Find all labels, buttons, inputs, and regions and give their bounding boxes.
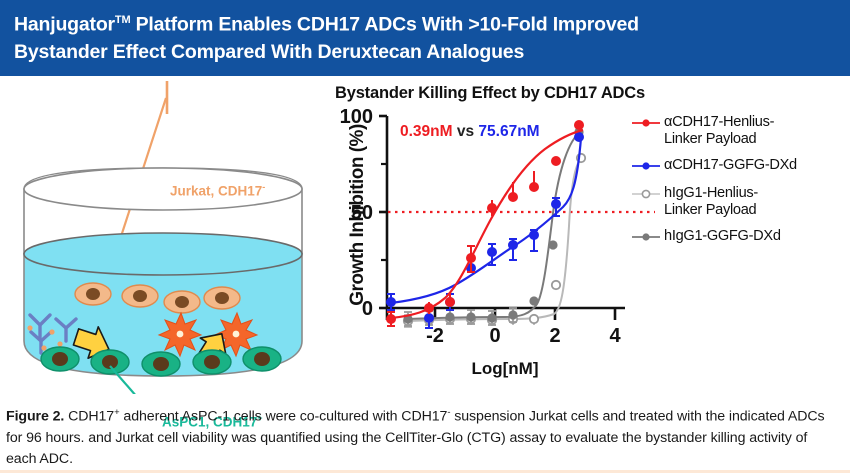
x-tick-label-2: 2 (549, 325, 560, 347)
data-point (551, 156, 561, 166)
figure-label: Figure 2. (6, 409, 64, 425)
data-point (574, 132, 584, 142)
caption-text: Figure 2. CDH17+ adherent AsPC-1 cells w… (6, 402, 836, 470)
legend-label-line2: Linker Payload (664, 202, 756, 218)
data-point (386, 297, 396, 307)
payload-dot (41, 345, 46, 350)
experiment-illustration: Jurkat, CDH17- AsPC1, CDH17+ (0, 76, 330, 394)
legend-marker-blue-filled-circle (630, 157, 664, 176)
data-point (548, 240, 557, 249)
bottom-accent-line (0, 470, 850, 473)
aspc1-nucleus (204, 355, 220, 369)
fluid-surface (24, 233, 302, 275)
chart-legend: αCDH17-Henlius- Linker Payload αCDH17-GG… (630, 114, 845, 256)
y-tick-label-0: 0 (362, 298, 373, 320)
x-tick-label-0: 0 (489, 325, 500, 347)
jurkat-nucleus (175, 296, 189, 308)
burst-core (177, 331, 184, 338)
figure-caption: Figure 2. CDH17+ adherent AsPC-1 cells w… (0, 398, 850, 476)
jurkat-nucleus (215, 292, 229, 304)
jurkat-label-text: Jurkat, CDH17 (170, 184, 262, 199)
data-point (508, 240, 518, 250)
data-point (529, 182, 539, 192)
legend-item-higg1-henlius[interactable]: hIgG1-Henlius- Linker Payload (630, 185, 845, 219)
jurkat-label-sup: - (262, 182, 265, 192)
data-point (487, 313, 496, 322)
data-point (530, 315, 538, 323)
legend-label: hIgG1-GGFG-DXd (664, 228, 781, 245)
title-line1-a: Hanjugator (14, 14, 115, 36)
payload-dot (49, 329, 54, 334)
legend-item-acdh17-henlius[interactable]: αCDH17-Henlius- Linker Payload (630, 114, 845, 148)
title-line1-b: Platform Enables CDH17 ADCs With >10-Fol… (130, 14, 638, 36)
burst-core (233, 331, 240, 338)
data-point (386, 314, 396, 324)
legend-label: hIgG1-Henlius- Linker Payload (664, 185, 758, 219)
y-tick-label-100: 100 (340, 106, 373, 128)
legend-label-line1: αCDH17-GGFG-DXd (664, 157, 797, 173)
legend-label: αCDH17-GGFG-DXd (664, 157, 797, 174)
data-point (529, 230, 539, 240)
payload-dot (27, 325, 32, 330)
y-tick-label-50: 50 (351, 202, 373, 224)
trademark-symbol: TM (115, 14, 130, 26)
data-point (508, 310, 517, 319)
data-point (487, 203, 497, 213)
legend-item-acdh17-ggfg[interactable]: αCDH17-GGFG-DXd (630, 157, 845, 176)
caption-text-a: CDH17 (64, 409, 114, 425)
data-point (466, 312, 475, 321)
legend-marker-gray-filled-circle (630, 228, 664, 247)
data-point (529, 296, 538, 305)
aspc1-nucleus (153, 357, 169, 371)
data-point (445, 312, 454, 321)
legend-label-line2: Linker Payload (664, 131, 756, 147)
figure-content: Jurkat, CDH17- AsPC1, CDH17+ Bystander K… (0, 76, 850, 394)
series-line-higg1-henlius (408, 159, 581, 321)
jurkat-nucleus (133, 290, 147, 302)
legend-label-line1: hIgG1-Henlius- (664, 185, 758, 201)
plot-area: 100 50 0 -2 0 2 4 (325, 76, 655, 376)
data-point (445, 297, 455, 307)
data-point (508, 192, 518, 202)
legend-label-line1: αCDH17-Henlius- (664, 114, 774, 130)
dose-response-chart: Bystander Killing Effect by CDH17 ADCs G… (325, 76, 850, 394)
legend-marker-red-filled-circle (630, 114, 664, 133)
jurkat-nucleus (86, 288, 100, 300)
series-markers-acdh17-henlius (386, 120, 584, 324)
legend-marker-gray-open-circle (630, 185, 664, 204)
header-banner: HanjugatorTM Platform Enables CDH17 ADCs… (0, 0, 850, 76)
data-point (424, 303, 434, 313)
data-point (487, 247, 497, 257)
caption-text-b: adherent AsPC-1 cells were co-cultured w… (120, 409, 448, 425)
data-point (551, 199, 561, 209)
data-point (466, 253, 476, 263)
page-title: HanjugatorTM Platform Enables CDH17 ADCs… (14, 7, 836, 66)
coculture-diagram (0, 76, 330, 394)
legend-item-higg1-ggfg[interactable]: hIgG1-GGFG-DXd (630, 228, 845, 247)
x-tick-label-4: 4 (609, 325, 621, 347)
aspc1-nucleus (52, 352, 68, 366)
jurkat-label: Jurkat, CDH17- (170, 182, 265, 199)
legend-label: αCDH17-Henlius- Linker Payload (664, 114, 774, 148)
aspc1-nucleus (254, 352, 270, 366)
data-point (552, 281, 560, 289)
legend-label-line1: hIgG1-GGFG-DXd (664, 228, 781, 244)
data-point (424, 313, 434, 323)
data-point (574, 120, 584, 130)
title-line2: Bystander Effect Compared With Deruxteca… (14, 41, 524, 63)
payload-dot (57, 341, 62, 346)
